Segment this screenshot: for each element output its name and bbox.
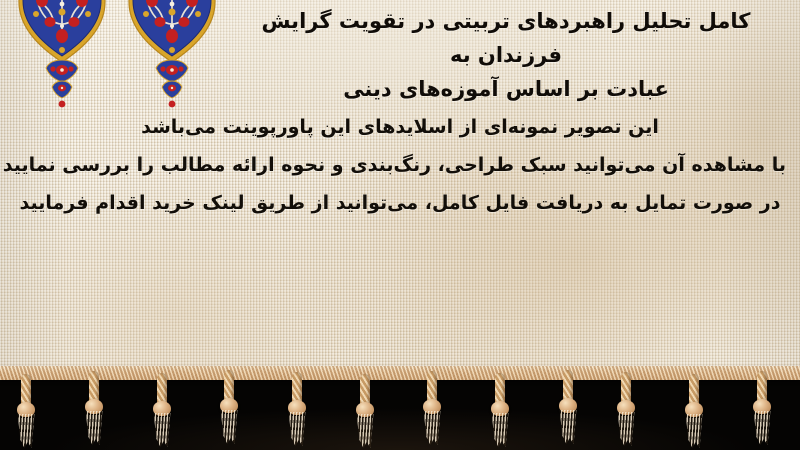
carpet-fringe-band [0, 366, 800, 380]
slide-title-line-1: کامل تحلیل راهبردهای تربیتی در تقویت گرا… [226, 4, 786, 72]
slide-body-line-3: در صورت تمایل به دریافت فایل کامل، می‌تو… [14, 184, 786, 222]
persian-carpet-medallion-ornament-left [18, 0, 106, 108]
slide-body-line-1: این تصویر نمونه‌ای از اسلایدهای این پاور… [14, 108, 786, 146]
slide-body: این تصویر نمونه‌ای از اسلایدهای این پاور… [14, 108, 786, 222]
carpet-dark-border [0, 372, 800, 450]
slide-title: کامل تحلیل راهبردهای تربیتی در تقویت گرا… [226, 4, 786, 106]
slide-body-line-2: با مشاهده آن می‌توانید سبک طراحی، رنگ‌بن… [14, 146, 786, 184]
persian-carpet-medallion-ornament-right [128, 0, 216, 108]
slide-title-line-2: عبادت بر اساس آموزه‌های دینی [226, 72, 786, 106]
presentation-slide: کامل تحلیل راهبردهای تربیتی در تقویت گرا… [0, 0, 800, 450]
